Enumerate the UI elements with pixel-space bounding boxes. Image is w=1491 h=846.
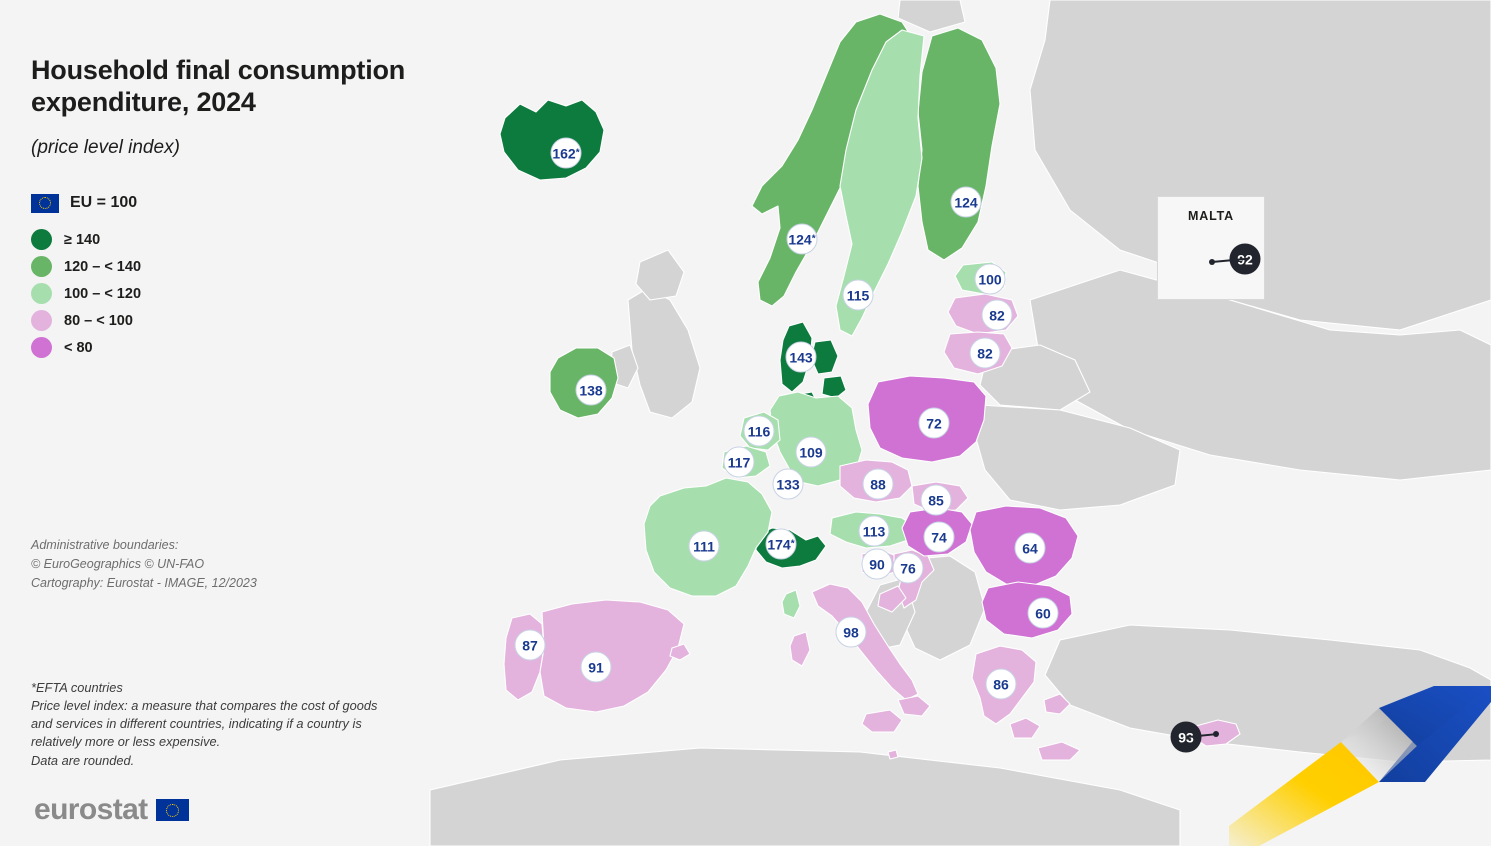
legend-swatch-120-140 (31, 256, 52, 277)
value-badge-poland: 72 (919, 408, 950, 439)
legend-item-lt-80[interactable]: < 80 (31, 334, 141, 361)
value-badge-austria: 113 (859, 516, 890, 547)
legend-swatch-80-100 (31, 310, 52, 331)
efta-asterisk: * (791, 539, 795, 549)
value-badge-ireland: 138 (576, 375, 607, 406)
malta-inset-title: MALTA (1158, 209, 1264, 223)
value-badge-croatia: 76 (893, 553, 924, 584)
value-badge-slovenia: 90 (862, 549, 893, 580)
legend-item-ge-140[interactable]: ≥ 140 (31, 226, 141, 253)
legend-label-80-100: 80 – < 100 (64, 313, 133, 329)
value-badge-switzerland: 174* (766, 529, 797, 560)
value-badge-sweden: 115 (843, 280, 874, 311)
legend-eu-label: EU = 100 (70, 194, 137, 212)
value-badge-finland: 124 (951, 187, 982, 218)
value-badge-denmark: 143 (786, 342, 817, 373)
value-badge-luxembourg: 133 (773, 469, 804, 500)
value-badge-romania: 64 (1015, 533, 1046, 564)
efta-footnote: *EFTA countries Price level index: a mea… (31, 679, 391, 770)
infographic-root: Household final consumption expenditure,… (0, 0, 1491, 846)
value-badge-hungary: 74 (924, 522, 955, 553)
eurostat-wordmark: eurostat (34, 795, 148, 825)
admin-boundaries-note: Administrative boundaries: © EuroGeograp… (31, 536, 257, 593)
value-badge-netherlands: 116 (744, 416, 775, 447)
eurostat-logo: eurostat (34, 795, 189, 825)
legend-swatch-ge-140 (31, 229, 52, 250)
legend-label-lt-80: < 80 (64, 340, 93, 356)
value-badge-iceland: 162* (551, 138, 582, 169)
value-badge-belgium: 117 (724, 447, 755, 478)
legend-label-ge-140: ≥ 140 (64, 232, 100, 248)
eu-flag-icon (156, 799, 189, 821)
legend-label-120-140: 120 – < 140 (64, 259, 141, 275)
value-badge-latvia: 82 (982, 300, 1013, 331)
efta-asterisk: * (812, 234, 816, 244)
page-subtitle: (price level index) (31, 137, 180, 159)
value-badge-france: 111 (689, 531, 720, 562)
legend-item-100-120[interactable]: 100 – < 120 (31, 280, 141, 307)
legend-eu-reference: EU = 100 (31, 192, 141, 214)
value-badge-spain: 91 (581, 652, 612, 683)
value-badge-slovakia: 85 (921, 485, 952, 516)
value-badge-bulgaria: 60 (1028, 598, 1059, 629)
value-badge-greece: 86 (986, 669, 1017, 700)
value-badge-portugal: 87 (515, 630, 546, 661)
value-badge-lithuania: 82 (970, 338, 1001, 369)
legend-swatch-lt-80 (31, 337, 52, 358)
efta-asterisk: * (576, 148, 580, 158)
legend: EU = 100 ≥ 140 120 – < 140 100 – < 120 8… (31, 192, 141, 361)
legend-item-80-100[interactable]: 80 – < 100 (31, 307, 141, 334)
legend-item-120-140[interactable]: 120 – < 140 (31, 253, 141, 280)
value-badge-estonia: 100 (975, 264, 1006, 295)
legend-label-100-120: 100 – < 120 (64, 286, 141, 302)
value-badge-czechia: 88 (863, 469, 894, 500)
value-badge-germany: 109 (796, 437, 827, 468)
eu-flag-icon (31, 194, 59, 213)
page-title: Household final consumption expenditure,… (31, 55, 421, 119)
legend-swatch-100-120 (31, 283, 52, 304)
value-badge-norway: 124* (787, 224, 818, 255)
value-badge-italy: 98 (836, 617, 867, 648)
brand-chevron-graphic (1229, 686, 1491, 846)
